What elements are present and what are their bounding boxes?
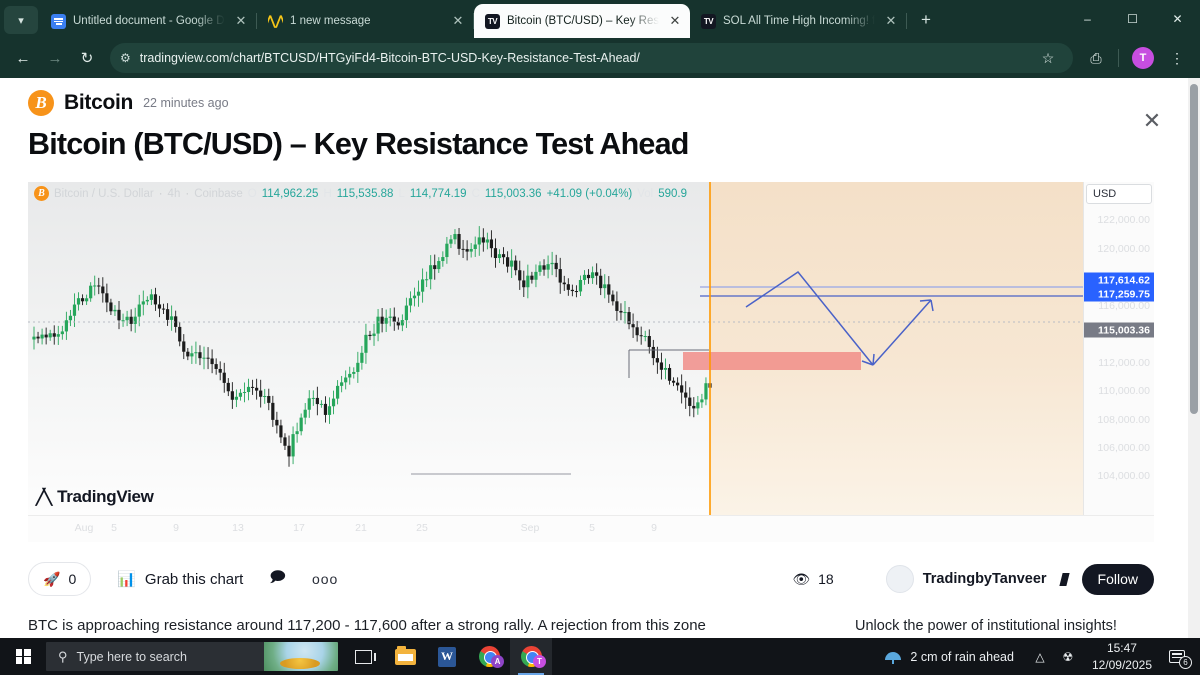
ohlc-open-label: O [248,188,257,200]
profile-badge-t: T [533,655,546,668]
new-tab-button[interactable]: + [913,7,939,33]
ohlc-high-label: H [323,188,331,200]
browser-tab-strip: ▾ Untitled document - Google Doc ✕ ⋀⋀ 1 … [0,0,1200,38]
notification-count: 6 [1179,656,1192,669]
chart-series [28,182,1083,515]
boost-button[interactable]: 🚀 0 [28,562,91,596]
tradingview-logo-icon: ╱╲ [36,488,50,506]
tab-title: Bitcoin (BTC/USD) – Key Resistance Test … [507,15,659,27]
browser-tab-2-active[interactable]: TV Bitcoin (BTC/USD) – Key Resistance Te… [474,4,690,38]
site-settings-icon[interactable]: ⚙ [120,51,131,65]
toolbar-divider [1118,49,1119,67]
page-content: B Bitcoin 22 minutes ago ✕ Bitcoin (BTC/… [0,78,1200,638]
price-tick: 104,000.00 [1097,470,1150,482]
price-tick: 108,000.00 [1097,414,1150,426]
author-info[interactable]: TradingbyTanveer [886,565,1068,593]
price-badge-last-price: 115,003.36 [1084,323,1154,338]
avatar [886,565,914,593]
search-icon: ⚲ [58,649,68,665]
legend-dot: · [185,188,189,200]
author-name: TradingbyTanveer [923,571,1047,587]
bluetooth-icon[interactable]: ☢ [1054,638,1082,675]
time-tick: 13 [232,522,244,534]
promo-text: Unlock the power of institutional insigh… [855,618,1185,634]
more-options-button[interactable]: ooo [312,571,338,587]
candlestick-series [32,226,711,467]
tradingview-icon: TV [485,14,500,29]
windows-logo-icon [16,649,31,664]
tab-title: Untitled document - Google Doc [73,15,225,27]
forward-icon[interactable]: → [40,43,70,73]
page-scrollbar[interactable] [1188,78,1200,638]
brand-name: Bitcoin [64,91,133,115]
tradingview-icon: TV [701,14,716,29]
chart-legend: B Bitcoin / U.S. Dollar · 4h · Coinbase … [34,186,687,201]
mail-icon: ⋀⋀ [268,14,283,29]
bitcoin-icon: B [34,186,49,201]
time-tick: Sep [521,522,540,534]
word-button[interactable]: W [426,638,468,675]
back-icon[interactable]: ← [8,43,38,73]
tab-search-chevron-icon[interactable]: ▾ [4,6,38,34]
time-tick: Aug [75,522,94,534]
volume-label: Vol [637,188,653,200]
chart-symbol: Bitcoin / U.S. Dollar [54,188,154,200]
tab-close-icon[interactable]: ✕ [232,12,250,30]
notifications-button[interactable]: 6 [1162,638,1192,675]
post-action-bar: 🚀 0 📊 Grab this chart 🗩 ooo 👁 18 Trading… [28,556,1154,602]
price-tick: 120,000.00 [1097,243,1150,255]
price-badge-resistance-upper: 117,614.62 [1084,273,1154,288]
view-count: 👁 18 [792,571,833,588]
rain-icon [885,649,901,664]
ohlc-change: +41.09 (+0.04%) [547,188,633,200]
copy-chart-icon: 📊 [117,570,136,588]
legend-dot: · [159,188,163,200]
post-timestamp: 22 minutes ago [143,96,228,110]
profile-badge-a: A [491,655,504,668]
time-tick: 17 [293,522,305,534]
tab-divider [906,13,907,29]
folder-icon [395,649,416,665]
close-icon[interactable]: ✕ [1137,106,1167,136]
currency-selector[interactable]: USD [1086,184,1152,204]
browser-tab-1[interactable]: ⋀⋀ 1 new message ✕ [257,4,473,38]
bitcoin-icon: B [28,90,54,116]
chart-plot-area[interactable]: B Bitcoin / U.S. Dollar · 4h · Coinbase … [28,182,1083,515]
close-window-button[interactable]: ✕ [1155,0,1200,38]
windows-taskbar: ⚲ Type here to search W A T 2 cm of rain… [0,638,1200,675]
google-docs-icon [51,14,66,29]
profile-avatar[interactable]: T [1132,47,1154,69]
browser-tab-3[interactable]: TV SOL All Time High Incoming! fo ✕ [690,4,906,38]
ohlc-close-value: 115,003.36 [485,188,542,200]
chrome-profile-a-button[interactable]: A [468,638,510,675]
search-highlight-image [264,642,338,671]
search-placeholder: Type here to search [77,650,187,664]
ohlc-low-label: L [398,188,404,200]
chart-interval: 4h [168,188,181,200]
volume-value: 590.9 [658,188,687,200]
boost-count: 0 [68,571,76,587]
chart-exchange: Coinbase [194,188,243,200]
ohlc-close-label: C [472,188,480,200]
comment-icon: 🗩 [269,567,286,592]
screen: ▾ Untitled document - Google Doc ✕ ⋀⋀ 1 … [0,0,1200,675]
minimize-button[interactable]: – [1065,0,1110,38]
tradingview-chart[interactable]: B Bitcoin / U.S. Dollar · 4h · Coinbase … [28,182,1154,542]
time-tick: 5 [111,522,117,534]
price-tick: 106,000.00 [1097,442,1150,454]
clock-date: 12/09/2025 [1092,657,1152,673]
chrome-menu-icon[interactable]: ⋮ [1162,43,1192,73]
file-explorer-button[interactable] [384,638,426,675]
address-bar-url: tradingview.com/chart/BTCUSD/HTGyiFd4-Bi… [140,51,1024,65]
view-count-value: 18 [818,571,834,587]
watermark-text: TradingView [57,487,154,507]
weather-widget[interactable]: 2 cm of rain ahead [873,649,1026,664]
time-tick: 9 [173,522,179,534]
rocket-icon: 🚀 [43,571,60,588]
address-bar[interactable]: ⚙ tradingview.com/chart/BTCUSD/HTGyiFd4-… [110,43,1073,73]
word-icon: W [438,647,456,667]
page-title: Bitcoin (BTC/USD) – Key Resistance Test … [0,116,1200,162]
system-tray: 2 cm of rain ahead △ ☢ 15:47 12/09/2025 … [873,638,1200,675]
grab-chart-label: Grab this chart [145,571,243,588]
browser-toolbar: ← → ↻ ⚙ tradingview.com/chart/BTCUSD/HTG… [0,38,1200,78]
extensions-icon[interactable]: ⎙ [1081,43,1111,73]
time-tick: 5 [589,522,595,534]
taskbar-app-list: W A T [342,638,552,675]
price-tick: 110,000.00 [1098,385,1150,397]
price-tick: 112,000.00 [1098,357,1150,369]
task-view-icon [355,650,372,664]
clock-time: 15:47 [1092,640,1152,656]
task-view-button[interactable] [342,638,384,675]
tab-close-icon[interactable]: ✕ [666,12,684,30]
ohlc-high-value: 115,535.88 [337,188,394,200]
tradingview-watermark: ╱╲ TradingView [36,487,154,507]
comment-button[interactable]: 🗩 [269,567,286,592]
tab-title: 1 new message [290,15,442,27]
price-axis[interactable]: USD 122,000.00120,000.00118,000.00116,00… [1083,182,1154,515]
browser-tab-0[interactable]: Untitled document - Google Doc ✕ [40,4,256,38]
reload-icon[interactable]: ↻ [72,43,102,73]
scrollbar-thumb[interactable] [1190,84,1198,414]
post-header: B Bitcoin 22 minutes ago [0,78,1200,116]
follow-button[interactable]: Follow [1082,564,1154,595]
author-badge-icon [1059,573,1069,586]
start-button[interactable] [0,638,46,675]
price-tick: 122,000.00 [1097,214,1150,226]
clock[interactable]: 15:47 12/09/2025 [1082,640,1162,672]
show-hidden-icons-chevron-icon[interactable]: △ [1026,638,1054,675]
window-controls: – ☐ ✕ [1065,0,1200,38]
post-description: BTC is approaching resistance around 117… [28,616,828,636]
chrome-profile-t-button[interactable]: T [510,638,552,675]
bookmark-star-icon[interactable]: ☆ [1033,43,1063,73]
taskbar-search-input[interactable]: ⚲ Type here to search [46,642,338,671]
maximize-button[interactable]: ☐ [1110,0,1155,38]
time-axis[interactable]: Aug5913172125Sep59 [28,515,1154,542]
time-tick: 25 [416,522,428,534]
weather-text: 2 cm of rain ahead [910,650,1014,664]
grab-this-chart-button[interactable]: 📊 Grab this chart [117,570,243,588]
tab-title: SOL All Time High Incoming! fo [723,15,875,27]
ohlc-low-value: 114,774.19 [410,188,467,200]
ohlc-open-value: 114,962.25 [262,188,319,200]
projection-zigzag [746,272,933,365]
time-tick: 21 [355,522,367,534]
tab-close-icon[interactable]: ✕ [882,12,900,30]
time-tick: 9 [651,522,657,534]
eye-icon: 👁 [792,571,810,588]
tab-close-icon[interactable]: ✕ [449,12,467,30]
price-badge-resistance-lower: 117,259.75 [1084,287,1154,302]
